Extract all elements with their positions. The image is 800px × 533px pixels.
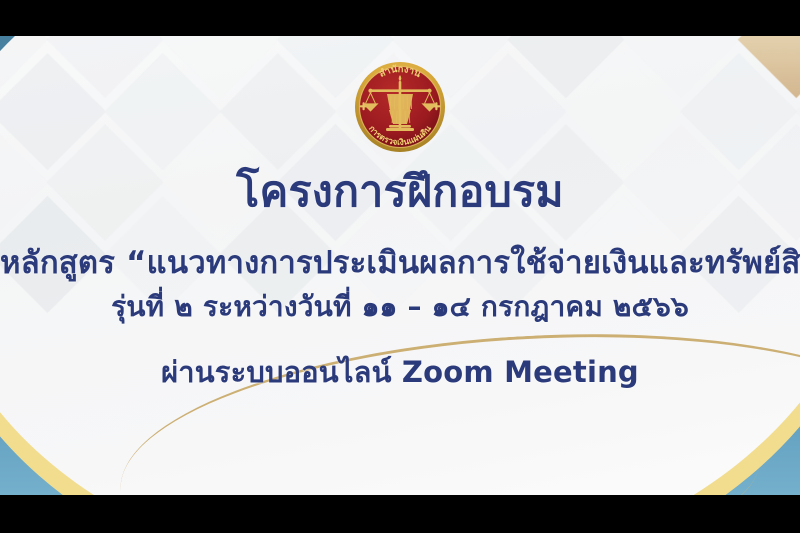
slide-stage: สำนักงาน การตรวจเงินแผ่นดิน xyxy=(0,36,800,495)
video-frame: สำนักงาน การตรวจเงินแผ่นดิน xyxy=(0,0,800,533)
letterbox-bar-top xyxy=(0,0,800,36)
page-title: โครงการฝึกอบรม xyxy=(0,166,800,218)
letterbox-bar-bottom xyxy=(0,495,800,533)
course-name: หลักสูตร “แนวทางการประเมินผลการใช้จ่ายเง… xyxy=(0,244,800,282)
schedule-text: รุ่นที่ ๒ ระหว่างวันที่ ๑๑ – ๑๔ กรกฎาคม … xyxy=(0,289,800,325)
platform-text: ผ่านระบบออนไลน์ Zoom Meeting xyxy=(0,353,800,391)
seal-office-of-the-auditor-general: สำนักงาน การตรวจเงินแผ่นดิน xyxy=(345,52,455,162)
